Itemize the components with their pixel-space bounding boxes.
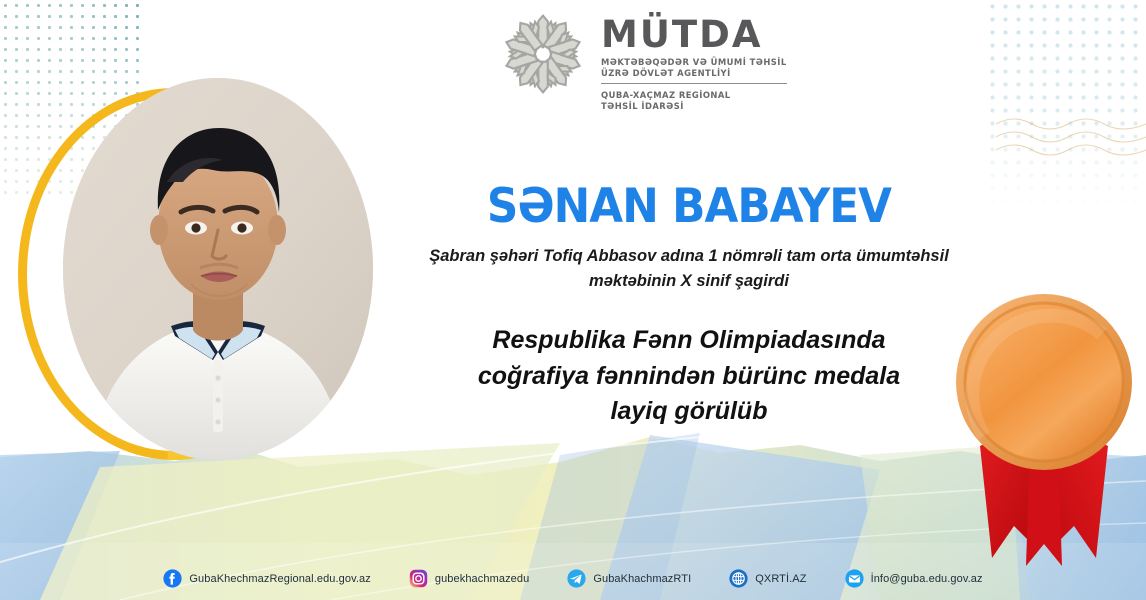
facebook-icon[interactable]: [163, 569, 182, 588]
instagram-label[interactable]: gubekhachmazedu: [435, 573, 529, 585]
logo-subtitle-line4: TƏHSİL İDARƏSİ: [601, 101, 787, 112]
logo-subtitle-line2: ÜZRƏ DÖVLƏT AGENTLİYİ: [601, 68, 787, 79]
website-label[interactable]: QXRTİ.AZ: [755, 573, 806, 585]
dot-pattern-right: [986, 0, 1146, 210]
globe-icon[interactable]: [729, 569, 748, 588]
telegram-label[interactable]: GubaKhachmazRTI: [593, 573, 691, 585]
social-item-telegram[interactable]: GubaKhachmazRTI: [567, 569, 691, 588]
social-item-website[interactable]: QXRTİ.AZ: [729, 569, 806, 588]
student-name: SƏNAN BABAYEV: [424, 183, 954, 231]
email-label[interactable]: İnfo@guba.edu.gov.az: [871, 573, 983, 585]
student-photo: [63, 78, 373, 460]
bronze-medal-icon: [944, 286, 1144, 586]
footer-social-bar: GubaKhechmazRegional.edu.gov.az gubekhac…: [0, 569, 1146, 588]
student-photo-illustration: [63, 78, 373, 460]
logo-subtitle-line1: MƏKTƏBƏQƏDƏR VƏ ÜMUMİ TƏHSİL: [601, 57, 787, 68]
social-item-instagram[interactable]: gubekhachmazedu: [409, 569, 529, 588]
organization-logo: MÜTDA MƏKTƏBƏQƏDƏR VƏ ÜMUMİ TƏHSİL ÜZRƏ …: [495, 6, 787, 112]
certificate-poster: MÜTDA MƏKTƏBƏQƏDƏR VƏ ÜMUMİ TƏHSİL ÜZRƏ …: [0, 0, 1146, 600]
logo-subtitle-agency: MƏKTƏBƏQƏDƏR VƏ ÜMUMİ TƏHSİL ÜZRƏ DÖVLƏT…: [601, 57, 787, 84]
social-item-facebook[interactable]: GubaKhechmazRegional.edu.gov.az: [163, 569, 370, 588]
award-description: Respublika Fənn Olimpiadasında coğrafiya…: [404, 323, 974, 430]
content-block: SƏNAN BABAYEV Şabran şəhəri Tofiq Abbaso…: [404, 183, 974, 430]
award-line-2: coğrafiya fənnindən bürünc medala: [404, 359, 974, 395]
facebook-label[interactable]: GubaKhechmazRegional.edu.gov.az: [189, 573, 370, 585]
instagram-icon[interactable]: [409, 569, 428, 588]
snowflake-rosette-icon: [495, 6, 591, 102]
social-item-email[interactable]: İnfo@guba.edu.gov.az: [845, 569, 983, 588]
telegram-icon[interactable]: [567, 569, 586, 588]
school-line-2: məktəbinin X sinif şagirdi: [404, 269, 974, 294]
email-icon[interactable]: [845, 569, 864, 588]
logo-wordmark: MÜTDA: [601, 16, 787, 53]
student-school-info: Şabran şəhəri Tofiq Abbasov adına 1 nömr…: [404, 244, 974, 294]
logo-subtitle-line3: QUBA-XAÇMAZ REGİONAL: [601, 90, 787, 101]
award-line-3: layiq görülüb: [404, 394, 974, 430]
logo-subtitle-region: QUBA-XAÇMAZ REGİONAL TƏHSİL İDARƏSİ: [601, 90, 787, 113]
award-line-1: Respublika Fənn Olimpiadasında: [404, 323, 974, 359]
school-line-1: Şabran şəhəri Tofiq Abbasov adına 1 nömr…: [404, 244, 974, 269]
portrait-container: [18, 78, 348, 478]
gold-wave-decoration: [996, 112, 1146, 162]
